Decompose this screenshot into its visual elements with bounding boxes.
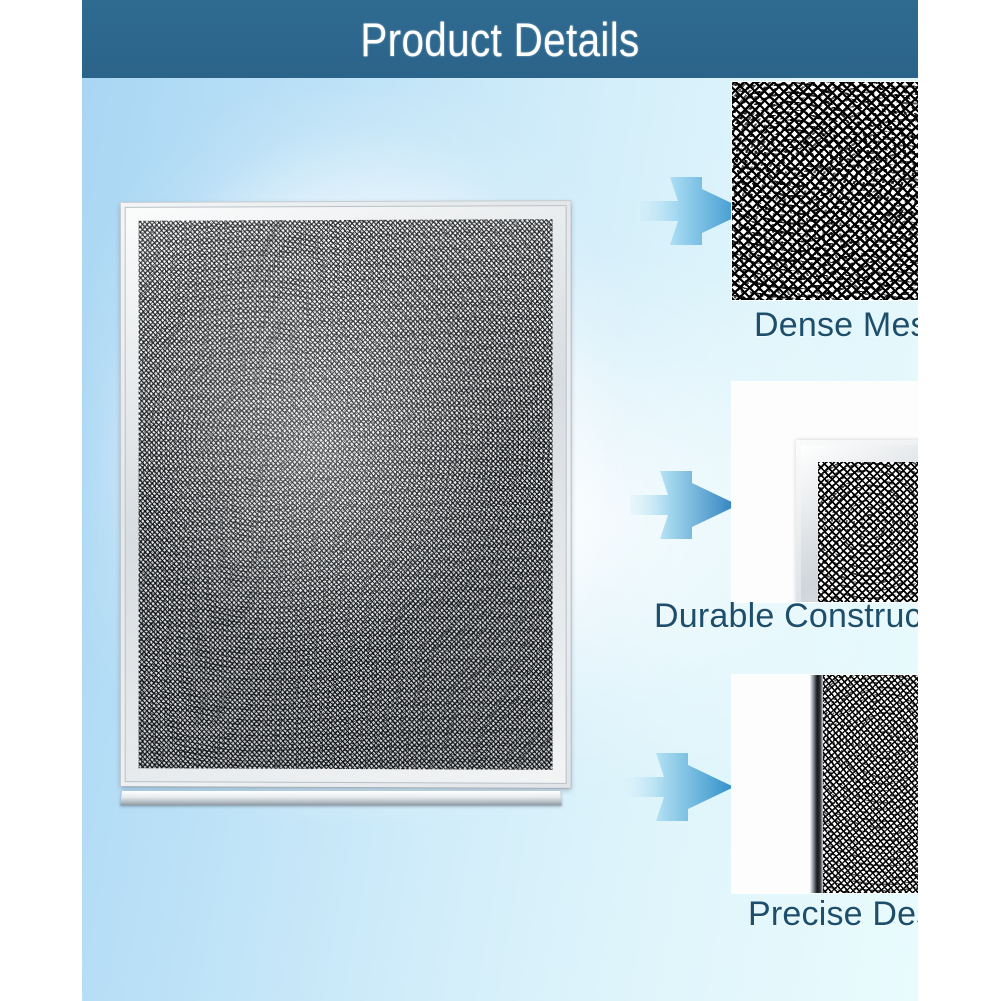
edge-mesh-area	[823, 675, 918, 893]
edge-mesh-texture	[823, 675, 918, 893]
dense-mesh-texture	[732, 82, 918, 300]
corner-mesh-texture	[818, 462, 918, 602]
arrow-icon	[626, 739, 736, 835]
filter-frame	[121, 201, 571, 788]
corner-frame	[796, 440, 918, 602]
hero-product-image	[114, 120, 599, 795]
callout-precise-design: Precise Design	[548, 587, 918, 887]
callout-label-precise-design: Precise Design	[748, 895, 918, 934]
content-column: Product Details	[82, 0, 918, 1001]
corner-mesh-area	[818, 462, 918, 602]
filter-bottom-lip	[120, 791, 561, 805]
callout-durable-construction: Durable Construction	[552, 297, 918, 587]
filter-mesh-area	[139, 219, 553, 770]
closeup-photo-corner	[732, 382, 918, 602]
product-details-infographic: Product Details	[0, 0, 1001, 1001]
header-banner: Product Details	[82, 0, 918, 78]
filter-frame-rim	[125, 205, 567, 784]
closeup-photo-edge	[732, 675, 918, 893]
arrow-icon	[630, 457, 740, 553]
edge-metal-rail	[810, 675, 823, 893]
closeup-photo-dense-mesh	[732, 82, 918, 300]
mesh-shading-overlay	[139, 219, 553, 770]
corner-frame-rim	[801, 445, 918, 602]
page-title: Product Details	[141, 0, 860, 78]
